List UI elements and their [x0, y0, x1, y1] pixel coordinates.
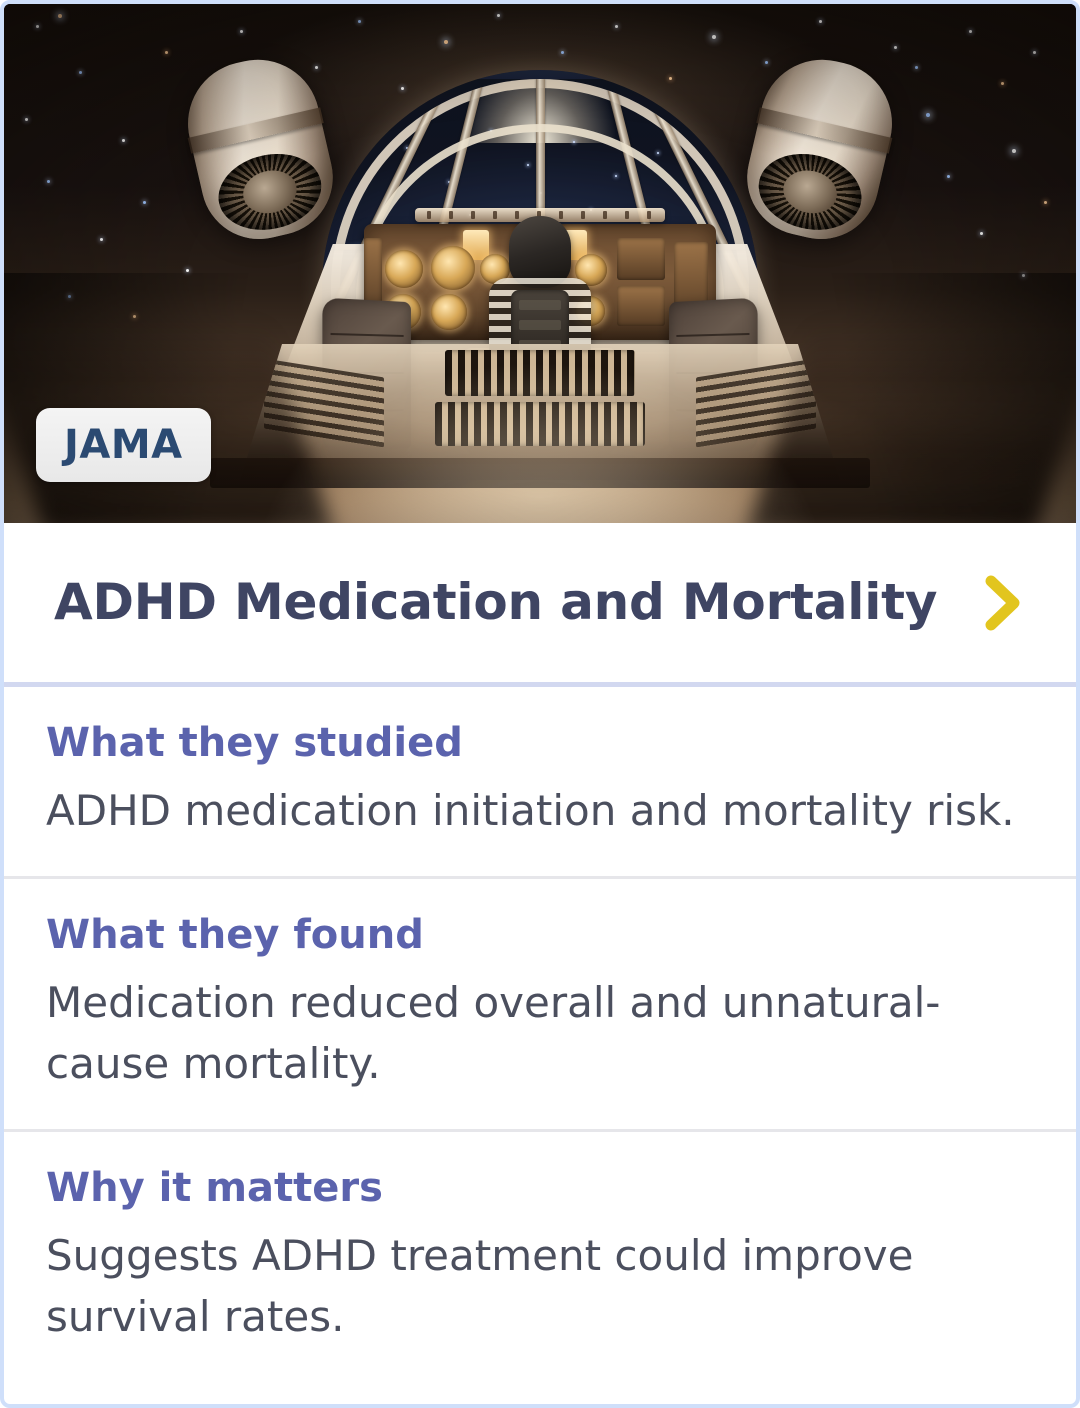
turbine-intake-right	[751, 144, 869, 239]
section-heading: What they found	[46, 911, 1034, 959]
section-body: Medication reduced overall and unnatural…	[46, 973, 1034, 1095]
section-why-it-matters: Why it matters Suggests ADHD treatment c…	[4, 1132, 1076, 1382]
section-what-they-found: What they found Medication reduced overa…	[4, 879, 1076, 1132]
hero-image: JAMA	[4, 4, 1076, 523]
chevron-right-icon[interactable]	[972, 572, 1034, 634]
study-summary-card: JAMA ADHD Medication and Mortality What …	[0, 0, 1080, 1408]
source-badge-label: JAMA	[64, 425, 183, 465]
section-body: ADHD medication initiation and mortality…	[46, 781, 1034, 842]
source-badge: JAMA	[36, 408, 211, 482]
section-what-they-studied: What they studied ADHD medication initia…	[4, 687, 1076, 879]
card-title-row[interactable]: ADHD Medication and Mortality	[4, 523, 1076, 687]
section-body: Suggests ADHD treatment could improve su…	[46, 1226, 1034, 1348]
section-heading: What they studied	[46, 719, 1034, 767]
turbine-intake-left	[211, 144, 329, 239]
ground-glow	[4, 273, 1076, 523]
page-title: ADHD Medication and Mortality	[54, 574, 937, 632]
section-heading: Why it matters	[46, 1164, 1034, 1212]
